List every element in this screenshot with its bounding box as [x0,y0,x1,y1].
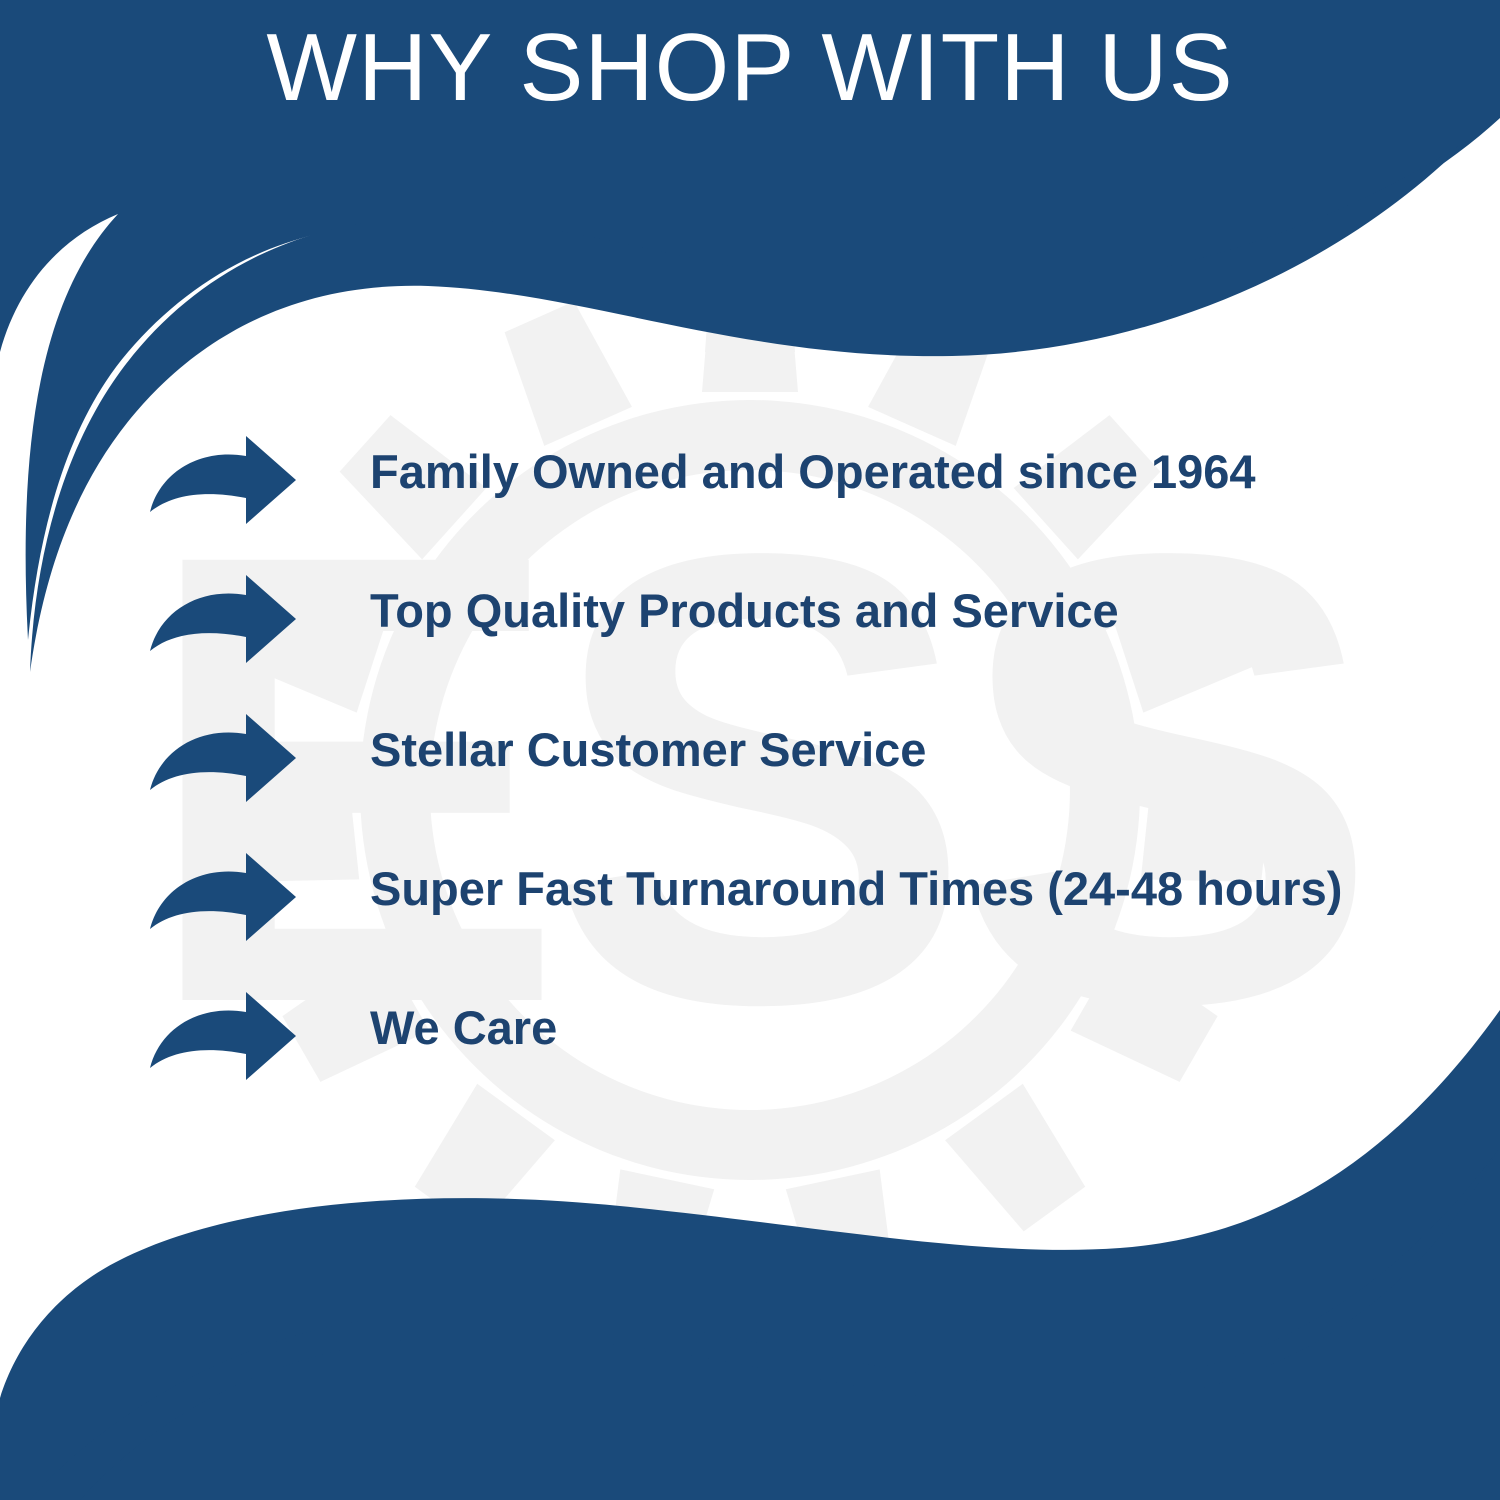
list-item-label: Family Owned and Operated since 1964 [370,446,1450,498]
list-item-label: Stellar Customer Service [370,724,1450,776]
bottom-wave-swoosh [30,1150,1498,1500]
page-title: WHY SHOP WITH US [0,16,1500,120]
curved-arrow-icon [150,714,298,802]
curved-arrow-icon [150,575,298,663]
list-item-label: Top Quality Products and Service [370,585,1450,637]
list-item: Family Owned and Operated since 1964 [150,432,1450,571]
list-item-label: We Care [370,1002,1450,1054]
list-item: Top Quality Products and Service [150,571,1450,710]
list-item: We Care [150,988,1450,1127]
benefits-list: Family Owned and Operated since 1964 Top… [150,432,1450,1127]
promo-graphic: ESS WHY SHOP WITH US Family Owned and Op… [0,0,1500,1500]
list-item: Super Fast Turnaround Times (24-48 hours… [150,849,1450,988]
list-item: Stellar Customer Service [150,710,1450,849]
curved-arrow-icon [150,436,298,524]
list-item-label: Super Fast Turnaround Times (24-48 hours… [370,863,1450,915]
curved-arrow-icon [150,853,298,941]
curved-arrow-icon [150,992,298,1080]
